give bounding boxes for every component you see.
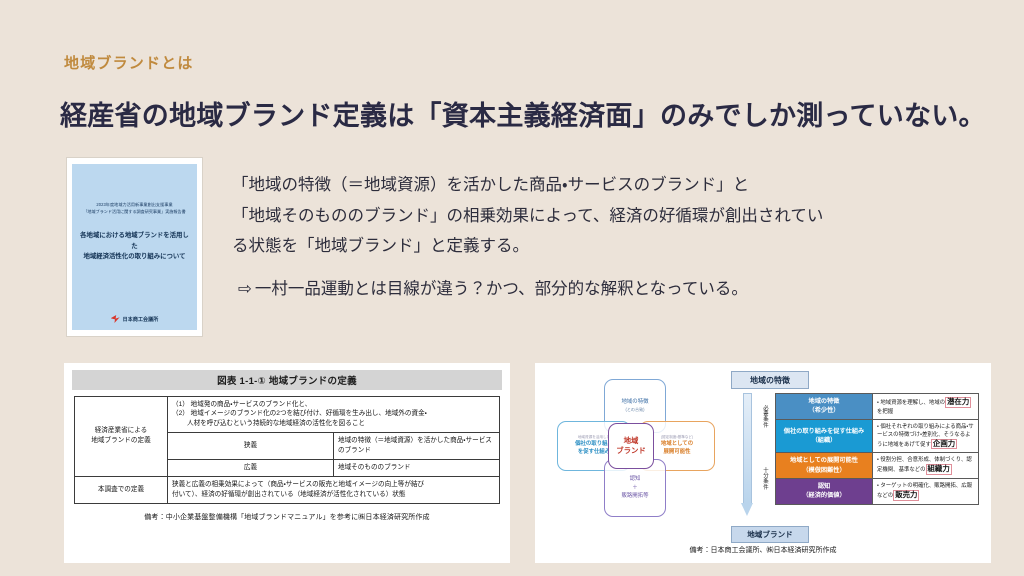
element-key-awareness-line-1: 認知	[818, 483, 830, 490]
down-arrow-shaft	[743, 393, 752, 505]
section-eyebrow: 地域ブランドとは	[64, 52, 194, 73]
conclusion-statement: ⇨一村一品運動とは目線が違う？かつ、部分的な解釈となっている。	[238, 275, 748, 303]
report-cover-title: 各地域における地域ブランドを活用した 地域経済活性化の取り組みについて	[79, 231, 190, 263]
element-key-company-scheme-line-2: （組織）	[812, 437, 837, 444]
down-arrow-icon	[741, 393, 754, 521]
venn-expandability-label-1: 地域としての	[661, 440, 693, 448]
table-row: 個社の取り組みを促す仕組み （組織） ・ 個社それぞれの取り組みによる商品・サー…	[776, 419, 979, 453]
element-key-awareness: 認知 （経済的価値）	[776, 478, 873, 504]
conclusion-text: 一村一品運動とは目線が違う？かつ、部分的な解釈となっている。	[255, 280, 748, 298]
venn-awareness-label-1: 認知	[630, 475, 641, 484]
element-desc-expandability: ・ 役割分担、合意形成、体制づくり、認定機関、基準などの組織力	[873, 453, 979, 479]
venn-awareness-plus: ＋	[632, 484, 637, 493]
element-desc-company-scheme: ・ 個社それぞれの取り組みによる商品・サービスの特徴づけ・差別化、そうなるように…	[873, 419, 979, 453]
element-key-expandability: 地域としての展開可能性 （模倣困難性）	[776, 453, 873, 479]
venn-awareness-label-2: 販路開拓等	[622, 492, 649, 501]
report-cover-subtitle-2: 「地域ブランド活用に関する調査研究事業」実施報告書	[83, 209, 185, 215]
element-desc-awareness: ・ ターゲットの明確化、販路開拓、広報などの販売力	[873, 478, 979, 504]
venn-box-regional-brand: 地域 ブランド	[608, 423, 654, 469]
left-figure-note: 備考：中小企業基盤整備機構「地域ブランドマニュアル」を参考に㈱日本経済研究所作成	[64, 512, 510, 522]
table-row: 本調査での定義 狭義と広義の相乗効果によって（商品・サービスの販売と地域イメージ…	[75, 476, 500, 503]
meti-definition-label: 経済産業省による 地域ブランドの定義	[75, 396, 168, 476]
survey-definition-value: 狭義と広義の相乗効果によって（商品・サービスの販売と地域イメージの向上等が結び …	[168, 476, 500, 503]
element-key-company-scheme: 個社の取り組みを促す仕組み （組織）	[776, 419, 873, 453]
broad-definition-value: 地域そのもののブランド	[334, 459, 500, 476]
broad-definition-label: 広義	[168, 459, 334, 476]
element-desc-awareness-prefix: ・ ターゲットの明確化、販路開拓、広報などの	[877, 483, 972, 499]
condition-sufficient-label: 十分条件	[759, 467, 769, 490]
survey-definition-label: 本調査での定義	[75, 476, 168, 503]
report-cover-logo: 日本商工会議所	[72, 315, 197, 323]
meti-definition-item-1: （1） 地域発の商品・サービスのブランド化と、	[172, 401, 311, 408]
left-figure-caption: 図表 1-1-① 地域ブランドの定義	[72, 370, 502, 390]
page-title: 経産省の地域ブランド定義は「資本主義経済面」のみでしか測っていない。	[60, 94, 986, 133]
survey-definition-value-line-2: 付いて）、経済の好循環が創出されている（地域経済が活性化されている）状態	[172, 491, 405, 498]
meti-definition-item-2: （2） 地域イメージのブランド化の2つを結び付け、好循環を生み出し、地域外の資金…	[172, 410, 427, 417]
survey-definition-value-line-1: 狭義と広義の相乗効果によって（商品・サービスの販売と地域イメージの向上等が結び	[172, 481, 424, 488]
table-row: 地域の特徴 （希少性） ・ 地域資源を理解し、地域の潜在力を把握	[776, 394, 979, 420]
element-key-expandability-line-1: 地域としての展開可能性	[790, 457, 858, 464]
meti-definition-label-line-2: 地域ブランドの定義	[91, 437, 150, 444]
element-key-expandability-line-2: （模倣困難性）	[802, 467, 845, 474]
report-cover-title-line-1: 各地域における地域ブランドを活用した	[80, 232, 189, 250]
element-key-company-scheme-line-1: 個社の取り組みを促す仕組み	[784, 428, 864, 435]
report-cover-subtitle-1: 2023年度地域力活用新事業創出支援事業	[96, 202, 172, 208]
definition-quote-line-1: 「地域の特徴（＝地域資源）を活かした商品・サービスのブランド」と	[232, 170, 1022, 201]
element-desc-company-scheme-highlight: 企画力	[931, 439, 957, 450]
venn-company-scheme-label-2: を促す仕組み	[578, 448, 610, 456]
narrow-definition-value: 地域の特徴（＝地域資源）を活かした商品・サービスのブランド	[334, 433, 500, 460]
table-row: 地域としての展開可能性 （模倣困難性） ・ 役割分担、合意形成、体制づくり、認定…	[776, 453, 979, 479]
report-cover-thumbnail: 2023年度地域力活用新事業創出支援事業 「地域ブランド活用に関する調査研究事業…	[66, 157, 203, 337]
element-desc-awareness-highlight: 販売力	[893, 490, 919, 501]
definition-quote-line-2: 「地域そのもののブランド」の相乗効果によって、経済の好循環が創出されてい	[232, 201, 1022, 232]
brand-element-table: 地域の特徴 （希少性） ・ 地域資源を理解し、地域の潜在力を把握 個社の取り組み…	[775, 393, 979, 505]
venn-regional-brand-label-1: 地域	[624, 436, 639, 446]
right-figure-panel: 地域の特徴 (との合致) 地域資源を活用した 個社の取り組み を促す仕組み (認…	[535, 363, 991, 563]
element-desc-expandability-highlight: 組織力	[926, 464, 952, 475]
report-cover-inner: 2023年度地域力活用新事業創出支援事業 「地域ブランド活用に関する調査研究事業…	[72, 164, 197, 330]
meti-definition-items: （1） 地域発の商品・サービスのブランド化と、 （2） 地域イメージのブランド化…	[168, 396, 500, 433]
element-desc-expandability-prefix: ・ 役割分担、合意形成、体制づくり、認定機関、基準などの	[877, 457, 972, 473]
venn-region-feature-label: 地域の特徴	[622, 399, 649, 407]
venn-regional-brand-label-2: ブランド	[616, 446, 646, 456]
element-key-region-feature-line-1: 地域の特徴	[809, 398, 840, 405]
meti-definition-label-line-1: 経済産業省による	[95, 427, 148, 434]
narrow-definition-label: 狭義	[168, 433, 334, 460]
right-figure-body: 地域の特徴 (との合致) 地域資源を活用した 個社の取り組み を促す仕組み (認…	[535, 363, 991, 563]
definition-table: 経済産業省による 地域ブランドの定義 （1） 地域発の商品・サービスのブランド化…	[74, 396, 500, 504]
report-cover-publisher: 日本商工会議所	[123, 316, 159, 323]
left-figure-panel: 図表 1-1-① 地域ブランドの定義 経済産業省による 地域ブランドの定義 （1…	[64, 363, 510, 563]
down-arrow-tip	[741, 503, 753, 516]
venn-expandability-label-2: 展開可能性	[664, 448, 691, 456]
element-key-awareness-line-2: （経済的価値）	[802, 492, 845, 499]
element-desc-company-scheme-prefix: ・ 個社それぞれの取り組みによる商品・サービスの特徴づけ・差別化、そうなるように…	[877, 424, 974, 448]
element-desc-region-feature-suffix: を把握	[877, 409, 893, 415]
right-figure-note: 備考：日本商工会議所、㈱日本経済研究所作成	[535, 545, 991, 555]
venn-region-feature-sublabel: (との合致)	[625, 407, 644, 413]
meti-definition-item-2-cont: 人材を呼び込むという持続的な地域経済の活性化を図ること	[172, 419, 495, 429]
element-key-region-feature: 地域の特徴 （希少性）	[776, 394, 873, 420]
element-key-region-feature-line-2: （希少性）	[809, 407, 840, 414]
table-row: 経済産業省による 地域ブランドの定義 （1） 地域発の商品・サービスのブランド化…	[75, 396, 500, 433]
diagram-foot-chip: 地域ブランド	[731, 526, 809, 543]
report-cover-title-line-2: 地域経済活性化の取り組みについて	[83, 253, 185, 260]
slide-root: 地域ブランドとは 経産省の地域ブランド定義は「資本主義経済面」のみでしか測ってい…	[0, 0, 1024, 576]
condition-necessary-label: 必要条件	[759, 405, 769, 428]
right-arrow-icon: ⇨	[238, 280, 252, 298]
element-desc-region-feature-prefix: ・ 地域資源を理解し、地域の	[877, 400, 945, 406]
definition-quote-line-3: る状態を「地域ブランド」と定義する。	[232, 231, 1022, 262]
definition-quote: 「地域の特徴（＝地域資源）を活かした商品・サービスのブランド」と 「地域そのもの…	[232, 170, 1022, 262]
element-desc-region-feature: ・ 地域資源を理解し、地域の潜在力を把握	[873, 394, 979, 420]
jcci-logo-icon	[111, 315, 120, 323]
element-desc-region-feature-highlight: 潜在力	[945, 397, 971, 408]
brand-venn-diagram: 地域の特徴 (との合致) 地域資源を活用した 個社の取り組み を促す仕組み (認…	[557, 379, 732, 519]
diagram-head-chip: 地域の特徴	[731, 371, 809, 389]
table-row: 認知 （経済的価値） ・ ターゲットの明確化、販路開拓、広報などの販売力	[776, 478, 979, 504]
